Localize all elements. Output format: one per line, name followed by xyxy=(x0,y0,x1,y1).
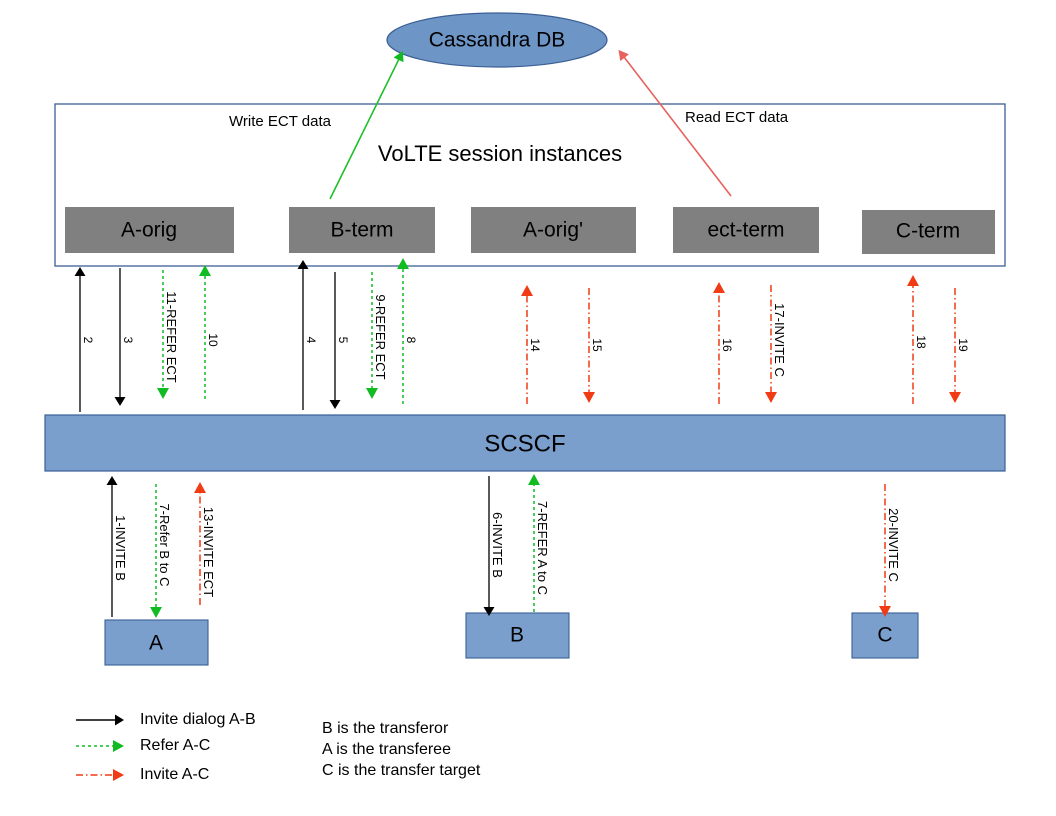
flow-lower-1-invite-b: 1-INVITE B xyxy=(112,484,128,617)
flow-label: 1-INVITE B xyxy=(113,515,128,581)
legend-label: Invite dialog A-B xyxy=(140,711,256,728)
flow-label: 15 xyxy=(590,338,604,352)
legend-item-invite-dialog: Invite dialog A-B xyxy=(76,711,256,728)
flow-upper-17-invite-c: 17-INVITE C xyxy=(771,285,787,393)
endpoint-label: B xyxy=(510,624,524,647)
flow-upper-4: 4 xyxy=(303,268,318,410)
notes-block: B is the transferor A is the transferee … xyxy=(322,720,481,779)
legend: Invite dialog A-B Refer A-C Invite A-C xyxy=(76,711,256,783)
session-box-label: B-term xyxy=(331,219,394,242)
flow-label: 11-REFER ECT xyxy=(164,291,179,383)
note-line: B is the transferor xyxy=(322,720,449,737)
flow-label: 19 xyxy=(956,338,970,352)
flow-label: 9-REFER ECT xyxy=(373,294,388,379)
flow-label: 16 xyxy=(720,338,734,352)
flow-label: 13-INVITE ECT xyxy=(201,507,216,597)
flow-label: 7-REFER A to C xyxy=(535,501,550,595)
flow-lower-7-refer-b-to-c: 7-Refer B to C xyxy=(156,484,172,608)
read-ect-data-label: Read ECT data xyxy=(685,109,789,126)
flow-lower-13-invite-ect: 13-INVITE ECT xyxy=(200,492,216,605)
flow-upper-5: 5 xyxy=(335,272,350,401)
session-box-label: ect-term xyxy=(707,219,784,242)
session-box-label: A-orig xyxy=(121,219,177,242)
endpoint-label: A xyxy=(149,632,163,655)
legend-label: Refer A-C xyxy=(140,737,210,754)
flow-upper-14: 14 xyxy=(527,295,542,404)
flow-upper-10: 10 xyxy=(205,275,220,399)
session-instance-a-orig: A-orig xyxy=(65,207,234,253)
flow-upper-8: 8 xyxy=(403,268,418,404)
session-instance-ect-term: ect-term xyxy=(673,207,819,253)
note-line: A is the transferee xyxy=(322,741,451,758)
flow-upper-16: 16 xyxy=(719,292,734,404)
endpoint-a: A xyxy=(105,620,208,665)
legend-item-refer: Refer A-C xyxy=(76,737,210,754)
endpoint-b: B xyxy=(466,613,569,658)
volte-container-title: VoLTE session instances xyxy=(378,141,622,166)
flow-label: 18 xyxy=(914,335,928,349)
flow-upper-11-refer-ect: 11-REFER ECT xyxy=(163,270,179,389)
flow-label: 10 xyxy=(206,333,220,347)
flow-label: 8 xyxy=(404,337,418,344)
scscf-label: SCSCF xyxy=(484,430,565,457)
flow-upper-19: 19 xyxy=(955,288,970,393)
flow-label: 4 xyxy=(304,337,318,344)
flow-upper-15: 15 xyxy=(589,288,604,393)
diagram-svg: Cassandra DB VoLTE session instances Wri… xyxy=(0,0,1056,816)
flow-label: 7-Refer B to C xyxy=(157,503,172,586)
flow-upper-9-refer-ect: 9-REFER ECT xyxy=(372,272,388,389)
session-instance-b-term: B-term xyxy=(289,207,435,253)
flow-lower-7-refer-a-to-c: 7-REFER A to C xyxy=(534,484,550,612)
flow-lower-6-invite-b: 6-INVITE B xyxy=(489,476,505,608)
flow-label: 17-INVITE C xyxy=(772,303,787,377)
flow-label: 20-INVITE C xyxy=(886,508,901,582)
flow-label: 3 xyxy=(121,337,135,344)
flow-label: 6-INVITE B xyxy=(490,512,505,578)
endpoint-c: C xyxy=(852,613,918,658)
flow-lower-20-invite-c: 20-INVITE C xyxy=(885,484,901,607)
cassandra-db-label: Cassandra DB xyxy=(429,29,566,52)
legend-item-invite-ac: Invite A-C xyxy=(76,766,209,783)
endpoint-label: C xyxy=(877,624,892,647)
session-instance-c-term: C-term xyxy=(862,210,995,254)
flow-label: 14 xyxy=(528,338,542,352)
legend-label: Invite A-C xyxy=(140,766,209,783)
diagram-canvas: Cassandra DB VoLTE session instances Wri… xyxy=(0,0,1056,816)
flow-label: 5 xyxy=(336,337,350,344)
write-ect-data-label: Write ECT data xyxy=(229,113,332,130)
flow-upper-18: 18 xyxy=(913,285,928,404)
session-box-label: C-term xyxy=(896,220,960,243)
flow-upper-3: 3 xyxy=(120,268,135,398)
flow-label: 2 xyxy=(81,337,95,344)
session-box-label: A-orig' xyxy=(523,219,583,242)
note-line: C is the transfer target xyxy=(322,762,481,779)
session-instance-a-orig-prime: A-orig' xyxy=(471,207,636,253)
flow-upper-2: 2 xyxy=(80,275,95,412)
